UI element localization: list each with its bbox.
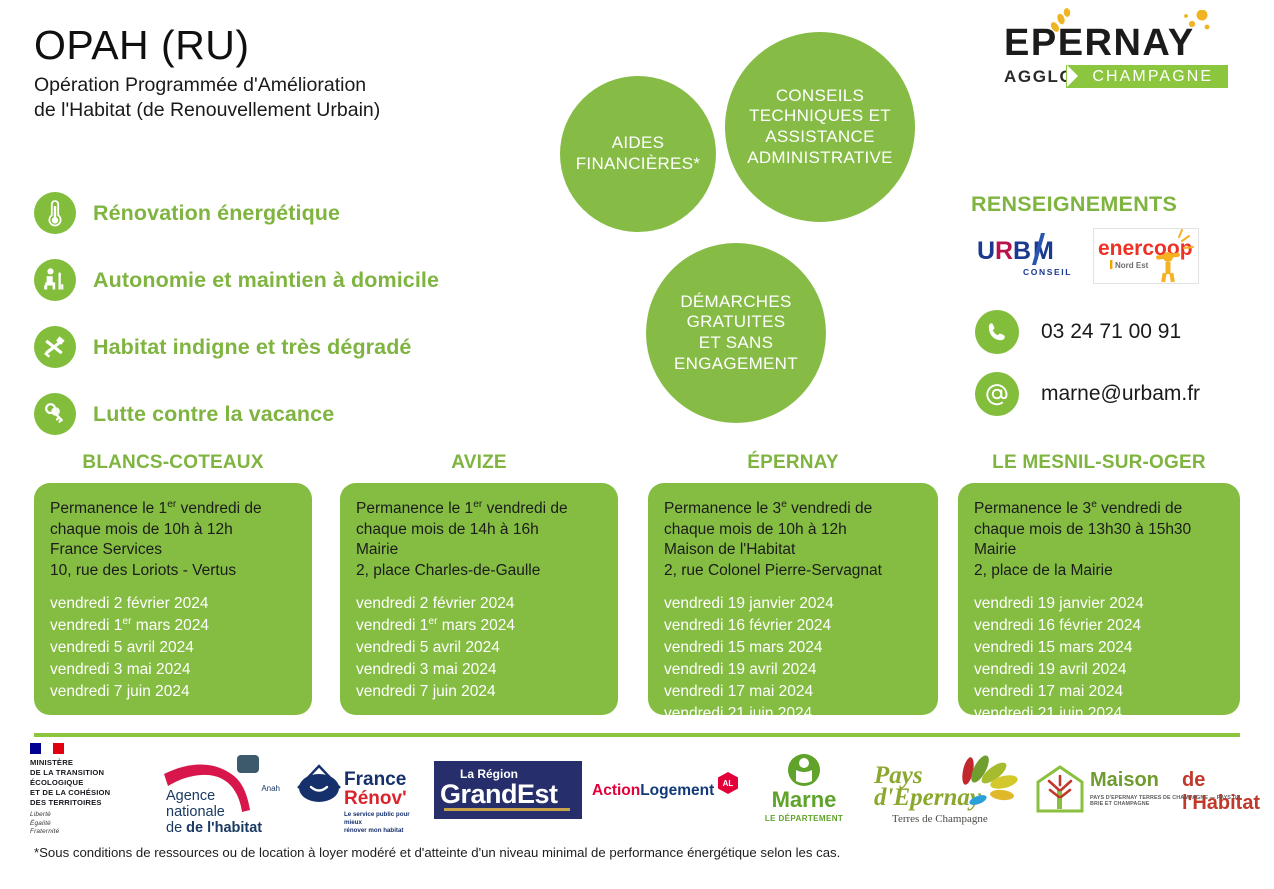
french-flag-icon — [30, 743, 64, 754]
card-head-line: Mairie — [974, 540, 1224, 561]
card-dates: vendredi 19 janvier 2024 vendredi 16 fév… — [974, 593, 1224, 725]
card-date: vendredi 3 mai 2024 — [356, 659, 602, 681]
pays-feather-icon — [956, 755, 1024, 813]
card-date: vendredi 21 juin 2024 — [664, 703, 922, 725]
card-dates: vendredi 19 janvier 2024 vendredi 16 fév… — [664, 593, 922, 725]
france-text: France — [344, 770, 406, 789]
poster-root: OPAH (RU) Opération Programmée d'Amélior… — [0, 0, 1274, 889]
feature-list: Rénovation énergétique Autonomie et main… — [34, 185, 554, 453]
bubble-line: ENGAGEMENT — [674, 354, 798, 375]
card-title: BLANCS-COTEAUX — [34, 452, 312, 474]
ministere-line: ET DE LA COHÉSION — [30, 788, 152, 798]
house-tree-icon — [1034, 763, 1086, 815]
marne-text: Marne — [748, 789, 860, 811]
footer-logo-strip: MINISTÈRE DE LA TRANSITION ÉCOLOGIQUE ET… — [30, 744, 1244, 836]
epernay-wordmark: EPERNAY — [1004, 24, 1228, 62]
subtitle-line-1: Opération Programmée d'Amélioration — [34, 73, 554, 98]
svg-text:R: R — [995, 237, 1013, 265]
marne-subtitle: LE DÉPARTEMENT — [748, 814, 860, 823]
card-date: vendredi 19 janvier 2024 — [974, 593, 1224, 615]
de-l-habitat-text: de l'Habitat — [1182, 769, 1260, 815]
card-head-line: Permanence le 3e vendredi de — [664, 499, 922, 520]
action-logement-logo: ActionLogement AL — [592, 770, 738, 810]
card-head-line: chaque mois de 14h à 16h — [356, 520, 602, 541]
page-title: OPAH (RU) — [34, 24, 554, 67]
pays-epernay-logo: Pays d'Epernay Terres de Champagne — [870, 751, 1022, 829]
card-date: vendredi 19 avril 2024 — [664, 659, 922, 681]
hammer-tools-icon — [34, 326, 76, 368]
feature-item-autonomie: Autonomie et maintien à domicile — [34, 252, 554, 308]
card-le-mesnil-sur-oger: LE MESNIL-SUR-OGER Permanence le 3e vend… — [958, 452, 1240, 715]
bubble-line: ASSISTANCE — [747, 127, 893, 148]
al-badge-icon: AL — [718, 772, 738, 794]
ministere-line: DE LA TRANSITION — [30, 768, 152, 778]
ministere-line: DES TERRITOIRES — [30, 798, 152, 808]
logement-text: Logement — [640, 782, 714, 799]
champagne-band: CHAMPAGNE — [1078, 65, 1228, 88]
anah-logo: Agence nationale de de l'habitat Anah — [162, 754, 282, 826]
card-date: vendredi 7 juin 2024 — [50, 681, 296, 703]
anah-wordmark: Agence nationale de de l'habitat — [166, 788, 262, 837]
seated-person-icon — [34, 259, 76, 301]
card-head: Permanence le 1er vendredi de chaque moi… — [356, 499, 602, 581]
feature-label: Habitat indigne et très dégradé — [93, 335, 412, 360]
region-grand-est-logo: La Région GrandEst — [434, 761, 582, 819]
card-date: vendredi 1er mars 2024 — [356, 615, 602, 637]
phone-number: 03 24 71 00 91 — [1041, 320, 1181, 344]
epernay-strip: AGGLO CHAMPAGNE — [1004, 65, 1228, 88]
france-renov-tagline: Le service public pour mieux rénover mon… — [344, 811, 424, 835]
card-head-line: 2, rue Colonel Pierre-Servagnat — [664, 561, 922, 582]
card-dates: vendredi 2 février 2024 vendredi 1er mar… — [356, 593, 602, 703]
email-address: marne@urbam.fr — [1041, 382, 1200, 406]
card-dates: vendredi 2 février 2024 vendredi 1er mar… — [50, 593, 296, 703]
feature-label: Lutte contre la vacance — [93, 402, 334, 427]
card-head-line: Maison de l'Habitat — [664, 540, 922, 561]
svg-text:B: B — [1013, 237, 1031, 265]
card-body: Permanence le 1er vendredi de chaque moi… — [340, 483, 618, 715]
thermometer-icon — [34, 192, 76, 234]
action-logement-wordmark: ActionLogement — [592, 782, 714, 800]
card-date: vendredi 16 février 2024 — [974, 615, 1224, 637]
wheat-ear-icon — [1046, 8, 1076, 34]
contact-phone[interactable]: 03 24 71 00 91 — [975, 310, 1181, 354]
bubble-demarches-gratuites: DÉMARCHES GRATUITES ET SANS ENGAGEMENT — [646, 243, 826, 423]
svg-text:Nord Est: Nord Est — [1115, 261, 1149, 270]
card-head-line: 10, rue des Loriots - Vertus — [50, 561, 296, 582]
bubble-line: AIDES — [576, 133, 701, 154]
epernay-wordmark-text: EPERNAY — [1004, 22, 1195, 64]
card-date: vendredi 19 janvier 2024 — [664, 593, 922, 615]
card-head-line: chaque mois de 13h30 à 15h30 — [974, 520, 1224, 541]
renov-text: Rénov' — [344, 789, 407, 808]
action-text: Action — [592, 782, 640, 799]
bubble-line: ET SANS — [674, 333, 798, 354]
card-head-line: Permanence le 1er vendredi de — [356, 499, 602, 520]
card-body: Permanence le 3e vendredi de chaque mois… — [958, 483, 1240, 715]
bubbles-icon — [1180, 10, 1214, 38]
subtitle-line-2: de l'Habitat (de Renouvellement Urbain) — [34, 98, 554, 123]
anah-line: Agence — [166, 788, 262, 804]
grand-est-text: GrandEst — [440, 779, 558, 810]
phone-icon — [975, 310, 1019, 354]
card-date: vendredi 2 février 2024 — [356, 593, 602, 615]
keys-icon — [34, 393, 76, 435]
marne-emblem-icon — [787, 753, 821, 787]
maison-text: Maison — [1090, 769, 1159, 792]
renseignements-heading: RENSEIGNEMENTS — [971, 192, 1177, 217]
devise-republique: Liberté Égalité Fraternité — [30, 811, 152, 837]
card-date: vendredi 16 février 2024 — [664, 615, 922, 637]
card-head-line: chaque mois de 10h à 12h — [50, 520, 296, 541]
france-renov-logo: France Rénov' Le service public pour mie… — [292, 754, 424, 826]
card-head-line: Permanence le 3e vendredi de — [974, 499, 1224, 520]
enercoop-logo: enercoop Nord Est — [1093, 228, 1199, 284]
card-body: Permanence le 1er vendredi de chaque moi… — [34, 483, 312, 715]
grand-est-rule — [444, 808, 570, 811]
maison-de-l-habitat-logo: Maison de l'Habitat PAYS D'EPERNAY TERRE… — [1032, 759, 1244, 821]
feature-label: Rénovation énergétique — [93, 201, 340, 226]
card-epernay: ÉPERNAY Permanence le 3e vendredi de cha… — [648, 452, 938, 715]
footnote: *Sous conditions de ressources ou de loc… — [34, 845, 840, 860]
anah-mark: Anah — [261, 784, 280, 793]
card-head-line: 2, place Charles-de-Gaulle — [356, 561, 602, 582]
svg-text:CONSEIL: CONSEIL — [1023, 267, 1071, 277]
card-blancs-coteaux: BLANCS-COTEAUX Permanence le 1er vendred… — [34, 452, 312, 715]
card-head-line: chaque mois de 10h à 12h — [664, 520, 922, 541]
feature-item-vacance: Lutte contre la vacance — [34, 386, 554, 442]
bubble-line: TECHNIQUES ET — [747, 106, 893, 127]
card-date: vendredi 17 mai 2024 — [974, 681, 1224, 703]
anah-line: nationale — [166, 804, 262, 820]
card-date: vendredi 7 juin 2024 — [356, 681, 602, 703]
ministere-line: ÉCOLOGIQUE — [30, 778, 152, 788]
card-date: vendredi 17 mai 2024 — [664, 681, 922, 703]
ministere-line: MINISTÈRE — [30, 758, 152, 768]
card-date: vendredi 19 avril 2024 — [974, 659, 1224, 681]
bubble-line: CONSEILS — [747, 86, 893, 107]
card-avize: AVIZE Permanence le 1er vendredi de chaq… — [340, 452, 618, 715]
bubble-line: DÉMARCHES — [674, 292, 798, 313]
bubble-line: ADMINISTRATIVE — [747, 148, 893, 169]
ministere-transition-ecologique-logo: MINISTÈRE DE LA TRANSITION ÉCOLOGIQUE ET… — [30, 743, 152, 837]
contact-email[interactable]: marne@urbam.fr — [975, 372, 1200, 416]
bubble-conseils-techniques: CONSEILS TECHNIQUES ET ASSISTANCE ADMINI… — [725, 32, 915, 222]
card-date: vendredi 15 mars 2024 — [664, 637, 922, 659]
bubble-aides-financieres: AIDES FINANCIÈRES* — [560, 76, 716, 232]
card-head: Permanence le 3e vendredi de chaque mois… — [974, 499, 1224, 581]
maison-habitat-subtitle: PAYS D'EPERNAY TERRES DE CHAMPAGNE — PAY… — [1090, 795, 1244, 807]
card-head-line: Mairie — [356, 540, 602, 561]
card-head: Permanence le 1er vendredi de chaque moi… — [50, 499, 296, 581]
feature-item-habitat-indigne: Habitat indigne et très dégradé — [34, 319, 554, 375]
partner-logos: U R B M CONSEIL enercoop Nord Est — [975, 228, 1199, 284]
card-head: Permanence le 3e vendredi de chaque mois… — [664, 499, 922, 581]
card-head-line: France Services — [50, 540, 296, 561]
card-date: vendredi 5 avril 2024 — [50, 637, 296, 659]
anah-line: de de l'habitat — [166, 820, 262, 836]
card-date: vendredi 1er mars 2024 — [50, 615, 296, 637]
urbam-conseil-logo: U R B M CONSEIL — [975, 231, 1071, 281]
card-date: vendredi 5 avril 2024 — [356, 637, 602, 659]
svg-text:U: U — [977, 237, 995, 265]
card-title: AVIZE — [340, 452, 618, 474]
card-title: ÉPERNAY — [648, 452, 938, 474]
card-head-line: Permanence le 1er vendredi de — [50, 499, 296, 520]
epernay-agglo-logo: EPERNAY AGGLO CHAMPAGNE — [1004, 24, 1228, 88]
feature-item-renovation: Rénovation énergétique — [34, 185, 554, 241]
marne-departement-logo: Marne LE DÉPARTEMENT — [748, 753, 860, 827]
bubble-line: GRATUITES — [674, 312, 798, 333]
footer-divider — [34, 733, 1240, 737]
at-sign-icon — [975, 372, 1019, 416]
bubble-line: FINANCIÈRES* — [576, 154, 701, 175]
card-title: LE MESNIL-SUR-OGER — [958, 452, 1240, 474]
title-block: OPAH (RU) Opération Programmée d'Amélior… — [34, 24, 554, 123]
card-date: vendredi 2 février 2024 — [50, 593, 296, 615]
card-date: vendredi 21 juin 2024 — [974, 703, 1224, 725]
feature-label: Autonomie et maintien à domicile — [93, 268, 439, 293]
page-subtitle: Opération Programmée d'Amélioration de l… — [34, 73, 554, 123]
card-date: vendredi 15 mars 2024 — [974, 637, 1224, 659]
card-date: vendredi 3 mai 2024 — [50, 659, 296, 681]
terres-de-champagne-text: Terres de Champagne — [892, 813, 988, 825]
card-head-line: 2, place de la Mairie — [974, 561, 1224, 582]
card-body: Permanence le 3e vendredi de chaque mois… — [648, 483, 938, 715]
